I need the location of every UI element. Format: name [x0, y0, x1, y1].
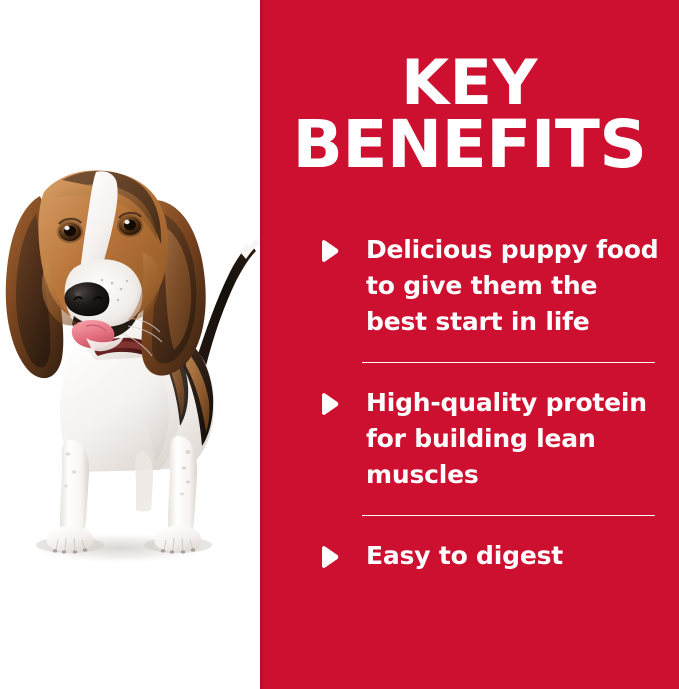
- title-line-1: KEY: [260, 52, 679, 114]
- triangle-right-icon: [318, 392, 340, 416]
- benefit-text: High-quality protein for building lean m…: [366, 385, 663, 493]
- triangle-right-icon: [318, 239, 340, 263]
- list-spacer: [318, 363, 663, 385]
- benefit-item: Delicious puppy food to give them the be…: [318, 232, 663, 340]
- list-spacer: [318, 516, 663, 538]
- benefit-text: Easy to digest: [366, 538, 663, 574]
- benefits-panel: KEY BENEFITS Delicious puppy food to giv…: [260, 0, 679, 689]
- title-line-2: BENEFITS: [260, 114, 679, 176]
- triangle-right-icon: [318, 545, 340, 569]
- benefit-text: Delicious puppy food to give them the be…: [366, 232, 663, 340]
- list-spacer: [318, 340, 663, 362]
- product-benefits-image: KEY BENEFITS Delicious puppy food to giv…: [0, 0, 679, 689]
- benefit-list: Delicious puppy food to give them the be…: [318, 232, 663, 574]
- benefit-item: Easy to digest: [318, 538, 663, 574]
- benefit-item: High-quality protein for building lean m…: [318, 385, 663, 493]
- photo-panel: [0, 0, 260, 689]
- beagle-puppy-photo: [0, 0, 260, 689]
- list-spacer: [318, 493, 663, 515]
- page-title: KEY BENEFITS: [260, 52, 679, 176]
